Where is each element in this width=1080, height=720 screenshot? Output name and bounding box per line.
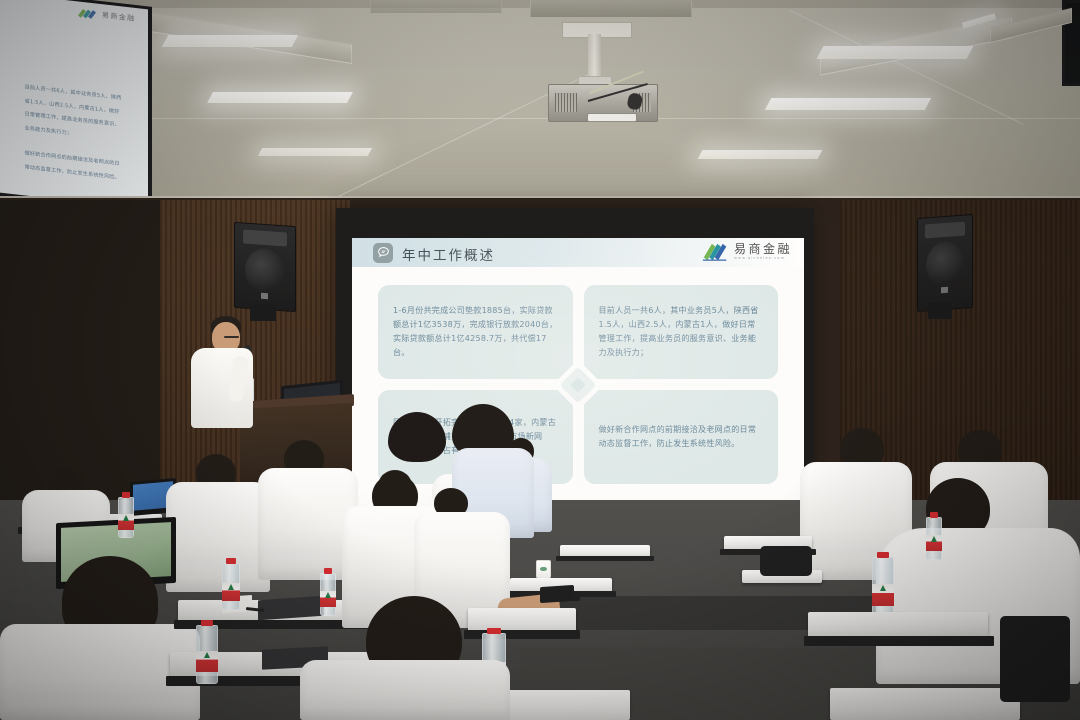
ceiling-light — [162, 35, 298, 47]
bottle-cap — [324, 568, 333, 574]
bottle-label — [196, 651, 218, 673]
bottle-cap — [487, 628, 500, 634]
bottle-leaf-icon — [931, 536, 937, 542]
bottle-leaf-icon — [880, 585, 886, 591]
speaker-cone — [926, 241, 964, 288]
speaker-cone — [245, 248, 285, 295]
ceiling-vent — [370, 0, 502, 14]
bottle-cap — [226, 558, 236, 564]
ceiling-light — [765, 98, 931, 110]
water-bottle — [196, 620, 218, 684]
card-text: 1-6月份共完成公司垫款1885台，实际贷款额总计1亿3538万，完成银行放款2… — [393, 304, 558, 359]
ceiling-light — [258, 148, 372, 156]
water-bottle — [872, 552, 894, 618]
water-bottle — [320, 568, 336, 616]
paper-cup — [536, 560, 551, 580]
water-bottle — [926, 512, 942, 560]
ceiling-light — [207, 92, 353, 103]
desk-edge — [556, 556, 654, 561]
chair-back — [1000, 616, 1070, 702]
smartphone — [540, 585, 574, 603]
desk — [808, 612, 988, 638]
monitor-line: 做好新合作网点的前期接洽及老网点的日 — [25, 150, 120, 167]
brand-name: 易商金融 — [734, 243, 792, 255]
ribbon-arrow-logo-icon — [702, 241, 729, 263]
bottle-leaf-icon — [325, 592, 331, 598]
wall-monitor-left: 易商金融 目前人员一共6人，其中业务员5人，陕西 省1.5人，山西2.5人，内蒙… — [0, 0, 152, 215]
water-bottle — [118, 492, 134, 538]
bottle-label — [118, 514, 134, 530]
ceiling-vent — [530, 0, 692, 18]
speaker-badge — [261, 293, 268, 299]
bottle-cap — [122, 492, 131, 498]
bottle-label — [222, 583, 240, 601]
presentation-slide: 年中工作概述 易商金融 www.qichelee.com 1-6月份共完成公司垫… — [352, 238, 804, 502]
monitor-line: 业务能力及执行力； — [25, 125, 73, 136]
brand-lockup: 易商金融 www.qichelee.com — [702, 241, 792, 263]
speaker-horn — [243, 229, 287, 246]
speaker-horn — [925, 222, 965, 239]
ceiling-seam — [0, 118, 1080, 119]
svg-text:易商金融: 易商金融 — [102, 10, 136, 23]
desk-edge — [804, 636, 994, 646]
monitor-screen: 易商金融 目前人员一共6人，其中业务员5人，陕西 省1.5人，山西2.5人，内蒙… — [0, 0, 148, 209]
slide-card-risk: 做好新合作网点的前期接洽及老网点的日常动态监督工作，防止发生系统性风险。 — [584, 390, 779, 484]
card-text: 目前人员一共6人，其中业务员5人，陕西省1.5人，山西2.5人，内蒙古1人，做好… — [599, 304, 764, 359]
bottle-cap — [201, 620, 213, 626]
slide-title: 年中工作概述 — [402, 244, 495, 264]
projector-pole — [588, 34, 601, 82]
bottle-label — [872, 584, 894, 606]
screenshot-root: 易商金融 目前人员一共6人，其中业务员5人，陕西 省1.5人，山西2.5人，内蒙… — [0, 0, 1080, 720]
bottle-label — [320, 591, 336, 607]
ceiling-light — [698, 150, 823, 159]
speaker-bracket — [928, 303, 952, 319]
slide-card-loans: 1-6月份共完成公司垫款1885台，实际贷款额总计1亿3538万，完成银行放款2… — [378, 285, 573, 379]
speech-bubble-icon — [373, 243, 393, 263]
projector-lens — [587, 113, 637, 122]
bottle-leaf-icon — [204, 652, 210, 658]
projector-vent — [555, 93, 577, 112]
monitor-brand-logo: 易商金融 — [76, 6, 142, 26]
wall-speaker-right — [917, 214, 973, 312]
desk — [830, 688, 1020, 720]
wall-speaker-left — [234, 222, 296, 312]
card-text: 做好新合作网点的前期接洽及老网点的日常动态监督工作，防止发生系统性风险。 — [599, 423, 764, 451]
water-bottle — [222, 558, 240, 610]
bottle-label — [926, 535, 942, 551]
monitor-text-block-1: 目前人员一共6人，其中业务员5人，陕西 省1.5人，山西2.5人，内蒙古1人，做… — [10, 76, 138, 152]
monitor-line: 常动态监督工作，防止发生系统性风险。 — [25, 164, 120, 181]
speaker-bracket — [250, 305, 276, 321]
speaker-badge — [941, 287, 948, 293]
bottle-leaf-icon — [123, 515, 129, 521]
bottle-leaf-icon — [228, 584, 234, 590]
presenter-glasses — [224, 336, 239, 338]
bottle-cap — [877, 552, 889, 558]
ceiling-light — [817, 46, 974, 59]
brand-url: www.qichelee.com — [734, 257, 792, 261]
audience-shirt — [300, 660, 510, 720]
speech-bubble-glyph — [377, 246, 390, 259]
slide-card-staffing: 目前人员一共6人，其中业务员5人，陕西省1.5人，山西2.5人，内蒙古1人，做好… — [584, 285, 779, 379]
brand-text: 易商金融 www.qichelee.com — [734, 243, 792, 261]
audience-shirt — [166, 482, 270, 592]
bottle-cap — [930, 512, 939, 518]
chair-back — [760, 546, 812, 576]
